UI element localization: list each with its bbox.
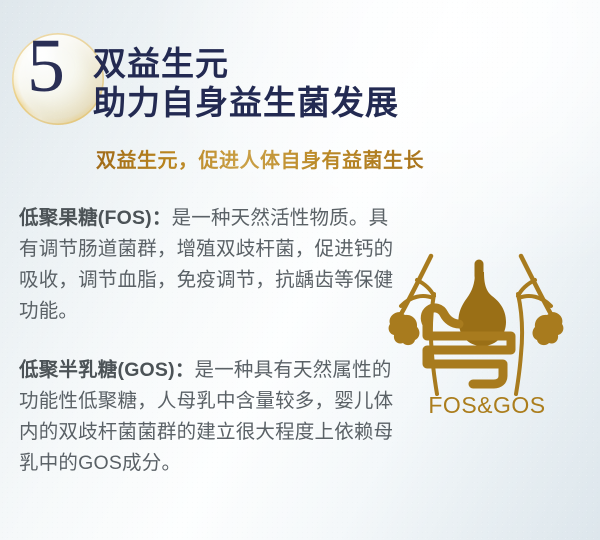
illustration-label: FOS&GOS: [387, 392, 587, 419]
page-title: 双益生元 助力自身益生菌发展: [93, 44, 593, 122]
paragraph-fos: 低聚果糖(FOS)：是一种天然活性物质。具有调节肠道菌群，增殖双歧杆菌，促进钙的…: [19, 203, 399, 327]
promo-poster: 5 双益生元 助力自身益生菌发展 双益生元，促进人体自身有益菌生长 低聚果糖(F…: [0, 0, 600, 540]
title-line-2: 助力自身益生菌发展: [93, 83, 593, 122]
fist-right-icon: [533, 312, 564, 345]
paragraph-gos: 低聚半乳糖(GOS)：是一种具有天然属性的功能性低聚糖，人母乳中含量较多，婴儿体…: [19, 355, 399, 479]
torso-outline-right: [516, 294, 522, 394]
body-text-section: 低聚果糖(FOS)：是一种天然活性物质。具有调节肠道菌群，增殖双歧杆菌，促进钙的…: [19, 203, 399, 479]
step-number: 5: [27, 28, 65, 104]
page-subtitle: 双益生元，促进人体自身有益菌生长: [96, 148, 424, 174]
paragraph-fos-lead: 低聚果糖(FOS)：: [19, 207, 172, 229]
paragraph-gos-lead: 低聚半乳糖(GOS)：: [19, 359, 195, 381]
header-section: 5 双益生元 助力自身益生菌发展 双益生元，促进人体自身有益菌生长: [0, 0, 600, 195]
title-line-1: 双益生元: [93, 44, 593, 83]
intestine-icon: [427, 324, 511, 384]
fist-left-icon: [389, 312, 420, 345]
